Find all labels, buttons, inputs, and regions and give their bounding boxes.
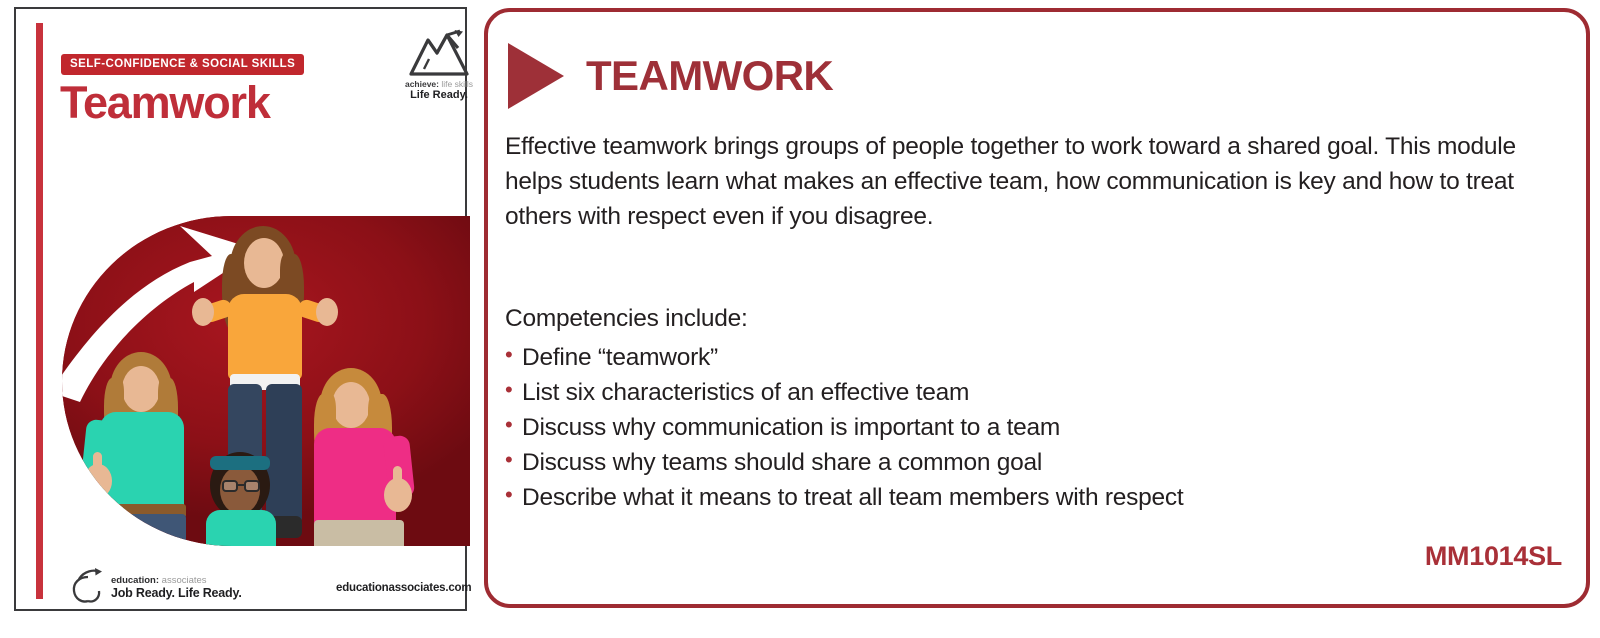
description-header: TEAMWORK — [508, 43, 833, 109]
list-item: Discuss why communication is important t… — [505, 410, 1183, 445]
product-code: MM1014SL — [1425, 541, 1562, 572]
competencies-heading: Competencies include: — [505, 305, 748, 333]
competencies-list: Define “teamwork” List six characteristi… — [505, 340, 1183, 515]
page-title: TEAMWORK — [586, 52, 833, 100]
achieve-word: achieve: — [405, 79, 439, 89]
achieve-tagline-rest: life skills — [439, 79, 473, 89]
module-description-card: TEAMWORK Effective teamwork brings group… — [484, 8, 1590, 608]
module-cover-card: SELF-CONFIDENCE & SOCIAL SKILLS Teamwork… — [14, 7, 467, 611]
play-triangle-icon — [508, 43, 564, 109]
category-badge: SELF-CONFIDENCE & SOCIAL SKILLS — [61, 54, 304, 75]
website-url: educationassociates.com — [336, 582, 471, 594]
list-item: List six characteristics of an effective… — [505, 375, 1183, 410]
cover-title: Teamwork — [60, 77, 270, 129]
ea-tagline-rest: associates — [159, 575, 207, 586]
list-item: Discuss why teams should share a common … — [505, 445, 1183, 480]
achieve-tagline-line1: achieve: life skills — [401, 79, 477, 89]
ea-word: education: — [111, 575, 159, 586]
apple-swoosh-icon — [68, 565, 108, 610]
achieve-life-skills-logo: achieve: life skills Life Ready. — [401, 29, 477, 101]
list-item: Describe what it means to treat all team… — [505, 480, 1183, 515]
ea-tagline-line1: education: associates — [111, 575, 242, 586]
education-associates-logo: education: associates Job Ready. Life Re… — [68, 565, 242, 610]
module-card-screenshot: SELF-CONFIDENCE & SOCIAL SKILLS Teamwork… — [0, 0, 1600, 638]
mountain-arrow-icon — [401, 29, 477, 77]
list-item: Define “teamwork” — [505, 340, 1183, 375]
students-thumbs-up-photo — [62, 216, 470, 546]
module-description-text: Effective teamwork brings groups of peop… — [505, 130, 1555, 234]
achieve-tagline-line2: Life Ready. — [401, 89, 477, 101]
ea-tagline-line2: Job Ready. Life Ready. — [111, 586, 242, 600]
cover-accent-stripe — [36, 23, 43, 599]
